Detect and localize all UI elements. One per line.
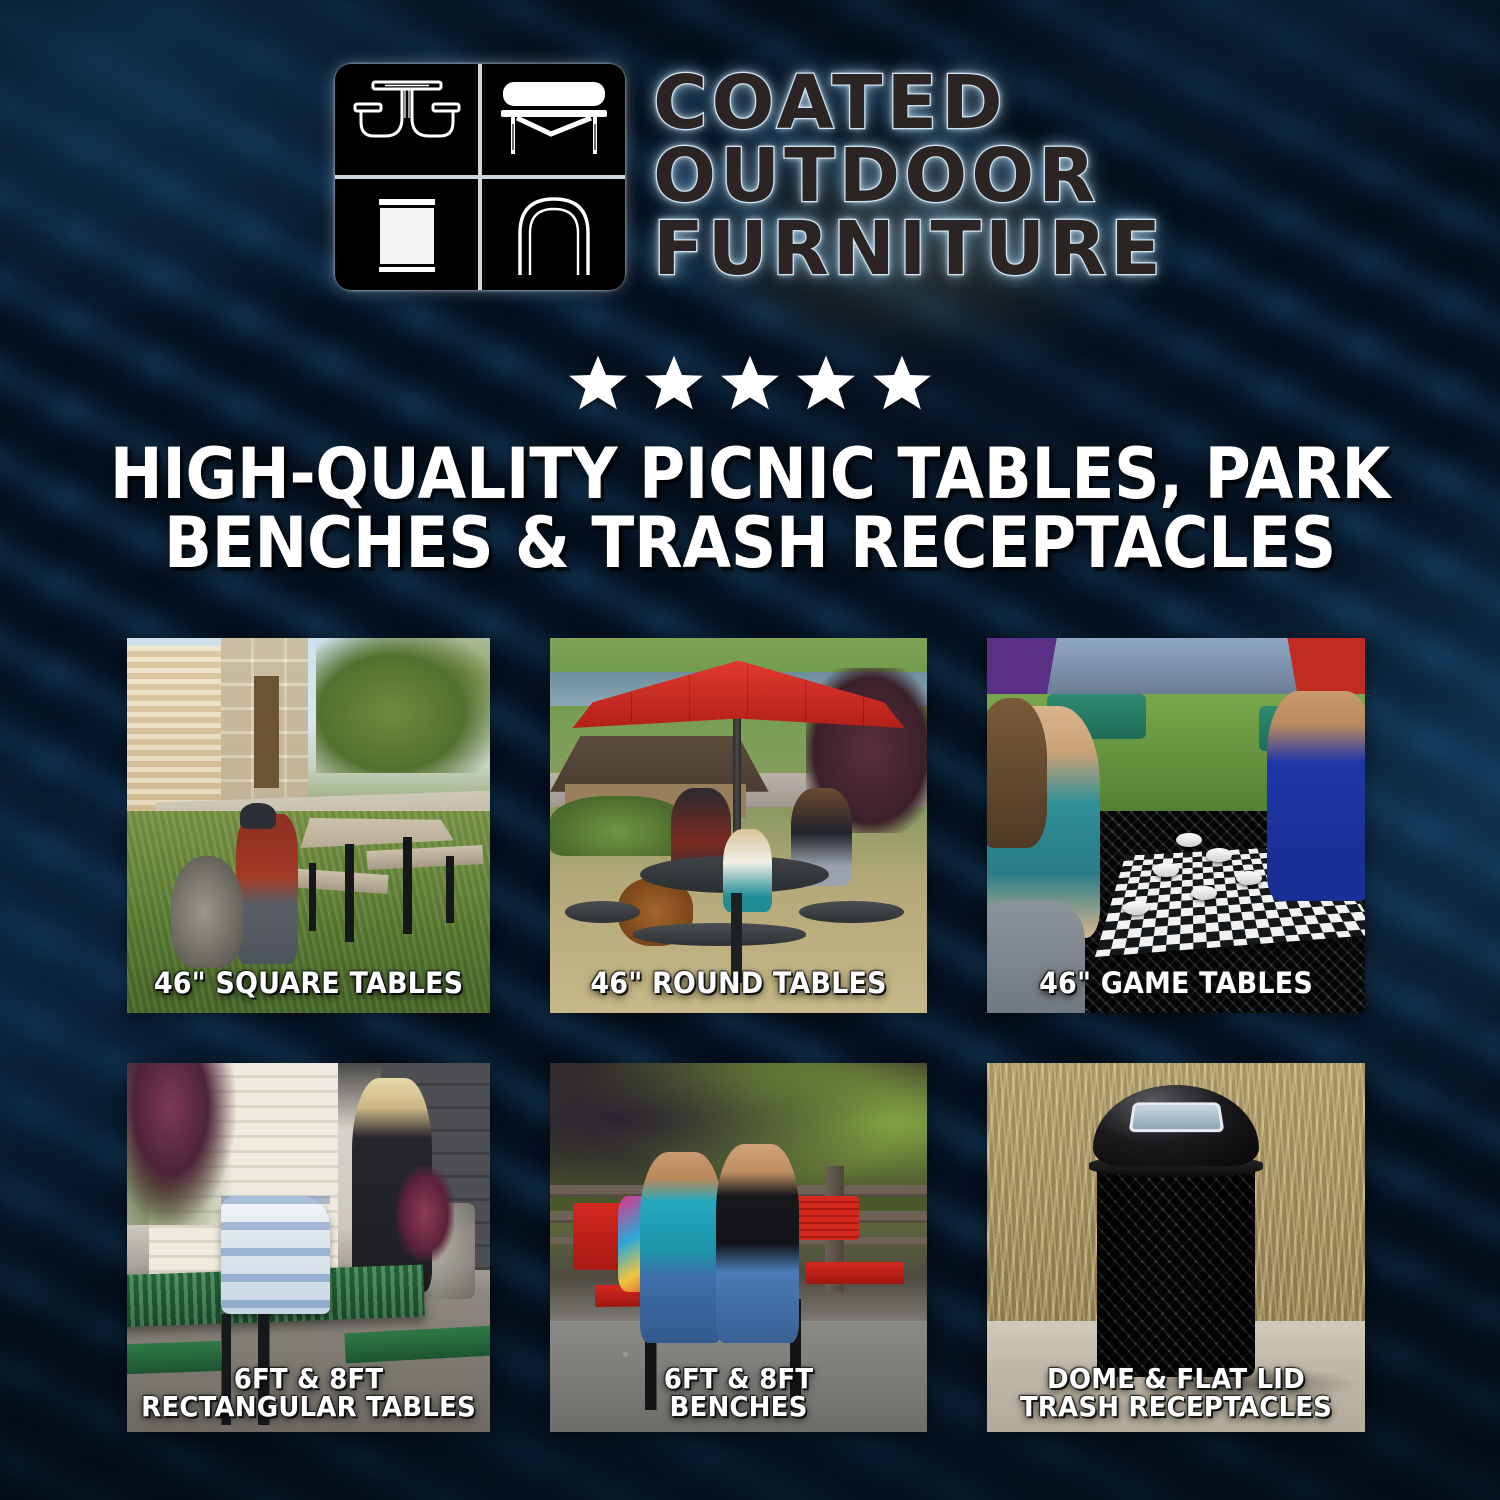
star-rating xyxy=(0,352,1500,414)
park-bench-icon xyxy=(482,64,625,175)
product-grid: 46" SQUARE TABLES xyxy=(127,638,1373,1432)
product-card-rectangular-tables[interactable]: 6FT & 8FT RECTANGULAR TABLES xyxy=(127,1063,490,1432)
product-card-round-tables[interactable]: 46" ROUND TABLES xyxy=(550,638,927,1013)
product-caption: 6FT & 8FT BENCHES xyxy=(563,1365,914,1422)
picnic-table-icon xyxy=(335,64,478,175)
headline-line-2: BENCHES & TRASH RECEPTACLES xyxy=(75,509,1425,578)
product-caption: 46" GAME TABLES xyxy=(1000,969,1352,999)
product-photo-game-tables xyxy=(987,638,1365,1013)
product-card-benches[interactable]: 6FT & 8FT BENCHES xyxy=(550,1063,927,1432)
product-card-trash-receptacles[interactable]: DOME & FLAT LID TRASH RECEPTACLES xyxy=(987,1063,1365,1432)
star-icon xyxy=(719,352,781,414)
dome-lid-receptacle-icon xyxy=(482,179,625,290)
banner-headline: HIGH-QUALITY PICNIC TABLES, PARK BENCHES… xyxy=(75,440,1425,577)
headline-line-1: HIGH-QUALITY PICNIC TABLES, PARK xyxy=(75,440,1425,509)
product-card-game-tables[interactable]: 46" GAME TABLES xyxy=(987,638,1365,1013)
star-icon xyxy=(795,352,857,414)
product-photo-round-tables xyxy=(550,638,927,1013)
logo-icon-grid xyxy=(335,64,625,290)
product-caption: 6FT & 8FT RECTANGULAR TABLES xyxy=(140,1365,478,1422)
brand-line-3: FURNITURE xyxy=(653,214,1165,285)
brand-wordmark: COATED OUTDOOR FURNITURE xyxy=(653,64,1165,285)
star-icon xyxy=(567,352,629,414)
flat-lid-receptacle-icon xyxy=(335,179,478,290)
star-icon xyxy=(643,352,705,414)
product-caption: 46" SQUARE TABLES xyxy=(140,969,478,999)
star-icon xyxy=(871,352,933,414)
brand-logo: COATED OUTDOOR FURNITURE xyxy=(0,64,1500,290)
brand-line-2: OUTDOOR xyxy=(653,141,1165,212)
brand-line-1: COATED xyxy=(653,68,1165,139)
banner-content: COATED OUTDOOR FURNITURE HIGH-QUALITY PI… xyxy=(0,0,1500,1500)
product-photo-square-tables xyxy=(127,638,490,1013)
product-caption: 46" ROUND TABLES xyxy=(563,969,914,999)
product-card-square-tables[interactable]: 46" SQUARE TABLES xyxy=(127,638,490,1013)
product-caption: DOME & FLAT LID TRASH RECEPTACLES xyxy=(1000,1365,1352,1422)
